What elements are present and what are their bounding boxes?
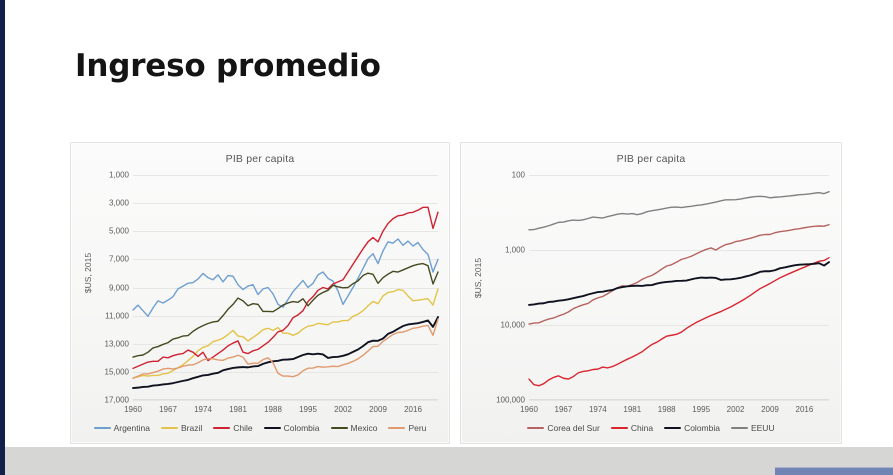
legend-swatch-icon — [331, 427, 348, 430]
line-series-mexico — [133, 264, 438, 358]
series-lines — [529, 175, 829, 400]
legend-item-china[interactable]: China — [611, 423, 653, 433]
x-axis-tick: 1988 — [658, 405, 676, 414]
legend-item-colombia[interactable]: Colombia — [264, 423, 320, 433]
plot-area-right: 100,00010,0001,0001001960196719741981198… — [529, 175, 829, 400]
legend-item-colombia[interactable]: Colombia — [664, 423, 720, 433]
y-axis-tick: 9,000 — [109, 283, 129, 292]
bottom-strip — [5, 447, 893, 475]
y-axis-label-left: $US, 2015 — [83, 243, 93, 303]
y-axis-label-right: $US, 2015 — [473, 248, 483, 308]
gridline — [133, 400, 438, 401]
chart-panel-left[interactable]: PIB per capita $US, 2015 17,00015,00013,… — [70, 142, 450, 444]
x-axis-tick: 2009 — [369, 405, 387, 414]
y-axis-tick: 13,000 — [105, 339, 129, 348]
legend-item-argentina[interactable]: Argentina — [94, 423, 150, 433]
x-axis-tick: 1981 — [229, 405, 247, 414]
y-axis-tick: 5,000 — [109, 227, 129, 236]
gridline — [529, 400, 829, 401]
chart-legend-left: ArgentinaBrazilChileColombiaMexicoPeru — [71, 423, 449, 433]
legend-swatch-icon — [388, 427, 405, 430]
legend-swatch-icon — [264, 427, 281, 430]
x-axis-tick: 2016 — [796, 405, 814, 414]
legend-item-peru[interactable]: Peru — [388, 423, 426, 433]
x-axis-tick: 1960 — [520, 405, 538, 414]
line-series-colombia — [529, 262, 829, 305]
legend-label: Peru — [408, 423, 426, 433]
chart-panel-right[interactable]: PIB per capita $US, 2015 100,00010,0001,… — [460, 142, 842, 444]
slide-left-edge — [0, 0, 5, 475]
bottom-progress-bar[interactable] — [775, 467, 893, 475]
y-axis-tick: 100 — [512, 171, 525, 180]
y-axis-tick: 11,000 — [105, 311, 129, 320]
legend-label: Brazil — [181, 423, 202, 433]
legend-swatch-icon — [161, 427, 178, 430]
x-axis-tick: 1967 — [159, 405, 177, 414]
x-axis-tick: 1995 — [692, 405, 710, 414]
legend-item-brazil[interactable]: Brazil — [161, 423, 202, 433]
y-axis-tick: 100,000 — [496, 396, 525, 405]
legend-swatch-icon — [611, 427, 628, 430]
x-axis-tick: 2016 — [404, 405, 422, 414]
slide-canvas: Ingreso promedio PIB per capita $US, 201… — [0, 0, 893, 475]
legend-swatch-icon — [731, 427, 748, 430]
line-series-eeuu — [529, 192, 829, 230]
legend-label: China — [631, 423, 653, 433]
legend-label: EEUU — [751, 423, 775, 433]
legend-item-eeuu[interactable]: EEUU — [731, 423, 775, 433]
line-series-china — [529, 258, 829, 386]
line-series-corea-del-sur — [529, 225, 829, 324]
legend-label: Corea del Sur — [547, 423, 599, 433]
chart-legend-right: Corea del SurChinaColombiaEEUU — [461, 423, 841, 433]
legend-item-chile[interactable]: Chile — [213, 423, 252, 433]
legend-label: Mexico — [351, 423, 378, 433]
legend-label: Colombia — [684, 423, 720, 433]
y-axis-tick: 17,000 — [105, 396, 129, 405]
y-axis-tick: 15,000 — [105, 367, 129, 376]
y-axis-tick: 7,000 — [109, 255, 129, 264]
legend-swatch-icon — [664, 427, 681, 430]
chart-title-left: PIB per capita — [71, 153, 449, 165]
x-axis-tick: 1988 — [264, 405, 282, 414]
legend-item-mexico[interactable]: Mexico — [331, 423, 378, 433]
y-axis-tick: 1,000 — [109, 171, 129, 180]
legend-swatch-icon — [527, 427, 544, 430]
x-axis-tick: 1960 — [124, 405, 142, 414]
y-axis-tick: 1,000 — [505, 246, 525, 255]
legend-item-corea-del-sur[interactable]: Corea del Sur — [527, 423, 599, 433]
x-axis-tick: 1974 — [194, 405, 212, 414]
y-axis-tick: 3,000 — [109, 199, 129, 208]
legend-label: Argentina — [114, 423, 150, 433]
legend-label: Colombia — [284, 423, 320, 433]
x-axis-tick: 1995 — [299, 405, 317, 414]
x-axis-tick: 1974 — [589, 405, 607, 414]
legend-swatch-icon — [94, 427, 111, 430]
chart-title-right: PIB per capita — [461, 153, 841, 165]
series-lines — [133, 175, 438, 400]
legend-swatch-icon — [213, 427, 230, 430]
x-axis-tick: 2002 — [727, 405, 745, 414]
plot-area-left: 17,00015,00013,00011,0009,0007,0005,0003… — [133, 175, 438, 400]
x-axis-tick: 2009 — [761, 405, 779, 414]
x-axis-tick: 1967 — [555, 405, 573, 414]
y-axis-tick: 10,000 — [501, 321, 525, 330]
legend-label: Chile — [233, 423, 252, 433]
x-axis-tick: 1981 — [623, 405, 641, 414]
x-axis-tick: 2002 — [334, 405, 352, 414]
page-title: Ingreso promedio — [75, 48, 381, 84]
